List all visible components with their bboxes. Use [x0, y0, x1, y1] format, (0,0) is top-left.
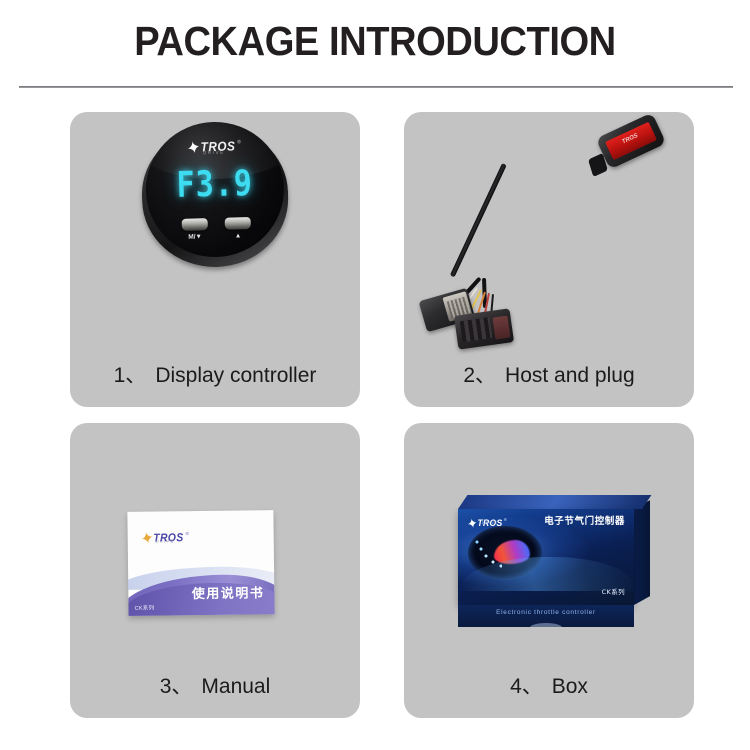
- package-item-display-controller[interactable]: ✦TROS® DRIVE F3.9 M/▼ ▲ 1、Display contro…: [70, 112, 360, 407]
- box-thumb-notch: [530, 623, 562, 627]
- box-image: ✦TROS® DRIVE 电子节气门控制器 CK系列 Electronic th…: [404, 423, 694, 663]
- registered-mark: ®: [237, 139, 241, 145]
- connector-male: [454, 308, 514, 349]
- page-title: PACKAGE INTRODUCTION: [26, 17, 724, 65]
- item-number: 4、: [510, 675, 543, 698]
- caption-manual: 3、Manual: [70, 670, 360, 700]
- host-module-label: TROS: [605, 122, 657, 160]
- package-item-manual[interactable]: ✦TROS® DRIVE 使用说明书 CK系列 3、Manual: [70, 423, 360, 718]
- host-harness-assembly: TROS: [404, 112, 694, 352]
- controller-mode-down-label: M/▼: [180, 233, 210, 241]
- package-item-box[interactable]: ✦TROS® DRIVE 电子节气门控制器 CK系列 Electronic th…: [404, 423, 694, 718]
- caption-host-and-plug: 2、Host and plug: [404, 359, 694, 389]
- package-item-host-and-plug[interactable]: TROS: [404, 112, 694, 407]
- caption-box: 4、Box: [404, 670, 694, 700]
- controller-up-button[interactable]: [225, 217, 251, 230]
- manual-image: ✦TROS® DRIVE 使用说明书 CK系列: [70, 423, 360, 663]
- item-number: 2、: [463, 364, 496, 387]
- item-number: 1、: [114, 364, 147, 387]
- box-side-panel: [634, 500, 650, 605]
- box-subtitle-english: Electronic throttle controller: [458, 609, 634, 616]
- item-number: 3、: [160, 675, 193, 698]
- box-series-code: CK系列: [602, 586, 625, 596]
- page-header: PACKAGE INTRODUCTION: [0, 0, 750, 92]
- box-brand-subtext: DRIVE: [482, 521, 498, 525]
- manual-series-code: CK系列: [134, 604, 154, 612]
- controller-button-row: M/▼ ▲: [147, 216, 286, 254]
- controller-mode-down-button[interactable]: [182, 218, 208, 231]
- manual-title-chinese: 使用说明书: [192, 582, 265, 602]
- header-divider: [19, 86, 733, 88]
- item-label: Display controller: [155, 364, 316, 387]
- item-label: Box: [552, 675, 588, 698]
- box-bottom-band: Electronic throttle controller: [458, 605, 634, 627]
- controller-up-label: ▲: [223, 232, 253, 240]
- manual-booklet: ✦TROS® DRIVE 使用说明书 CK系列: [127, 510, 274, 616]
- retail-box: ✦TROS® DRIVE 电子节气门控制器 CK系列 Electronic th…: [454, 495, 654, 625]
- display-controller-image: ✦TROS® DRIVE F3.9 M/▼ ▲: [70, 112, 360, 352]
- controller-face: ✦TROS® DRIVE F3.9 M/▼ ▲: [144, 120, 285, 259]
- host-and-plug-image: TROS: [404, 112, 694, 352]
- box-top-panel: [458, 495, 651, 509]
- item-label: Manual: [201, 675, 270, 698]
- package-items-grid: ✦TROS® DRIVE F3.9 M/▼ ▲ 1、Display contro…: [0, 92, 750, 750]
- registered-mark: ®: [504, 517, 507, 522]
- connector-male-pin-slots: [460, 317, 493, 342]
- controller-led-display: F3.9: [145, 162, 284, 207]
- manual-brand-subtext: DRIVE: [156, 538, 175, 543]
- host-module: TROS: [596, 112, 667, 169]
- registered-mark: ®: [186, 531, 189, 536]
- box-front-panel: ✦TROS® DRIVE 电子节气门控制器 CK系列: [458, 509, 634, 605]
- main-cable: [450, 163, 507, 277]
- host-module-label-mark: TROS: [607, 126, 653, 152]
- throttle-controller-device: ✦TROS® DRIVE F3.9 M/▼ ▲: [140, 119, 290, 269]
- box-title-chinese: 电子节气门控制器: [544, 513, 625, 527]
- caption-display-controller: 1、Display controller: [70, 359, 360, 389]
- connector-male-latch: [493, 316, 511, 340]
- item-label: Host and plug: [505, 364, 635, 387]
